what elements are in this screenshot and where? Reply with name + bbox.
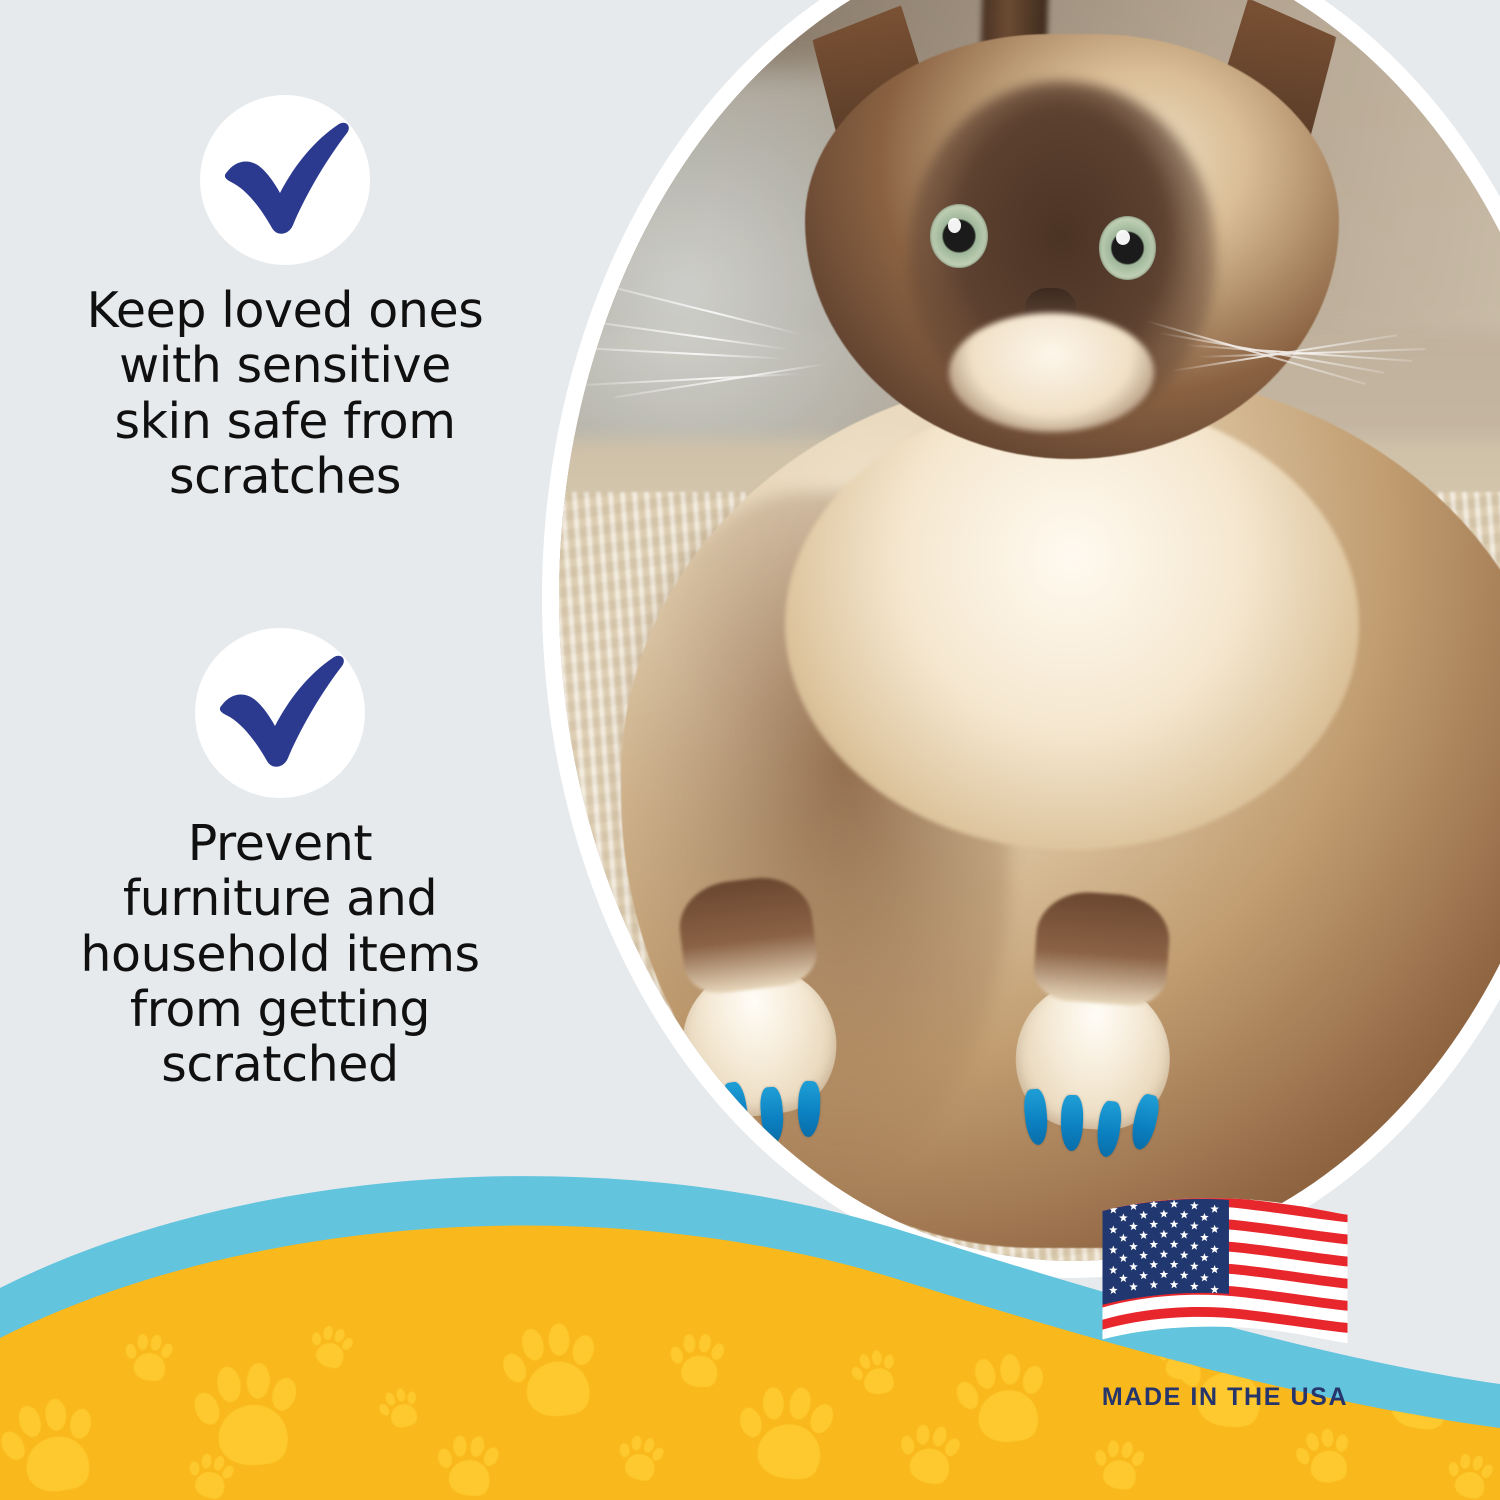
infographic-stage: Keep loved ones with sensitive skin safe… <box>0 0 1500 1500</box>
cat-whiskers <box>764 253 1400 492</box>
cat-with-blue-nail-caps-photo <box>559 0 1500 1261</box>
benefit-text-1: Keep loved ones with sensitive skin safe… <box>55 283 515 504</box>
checkmark-badge-2 <box>195 628 365 798</box>
benefit-item-1: Keep loved ones with sensitive skin safe… <box>55 95 515 504</box>
made-in-usa-badge: MADE IN THE USA <box>1045 1195 1405 1412</box>
checkmark-icon <box>215 120 355 240</box>
cat-photo-circle <box>542 0 1500 1278</box>
checkmark-badge-1 <box>200 95 370 265</box>
benefit-text-2: Prevent furniture and household items fr… <box>50 816 510 1093</box>
photo-clip <box>559 0 1500 1261</box>
benefit-item-2: Prevent furniture and household items fr… <box>50 628 510 1093</box>
made-in-usa-caption: MADE IN THE USA <box>1045 1383 1405 1412</box>
checkmark-icon <box>210 653 350 773</box>
usa-flag-icon <box>1096 1195 1354 1367</box>
benefits-column: Keep loved ones with sensitive skin safe… <box>0 0 560 1180</box>
